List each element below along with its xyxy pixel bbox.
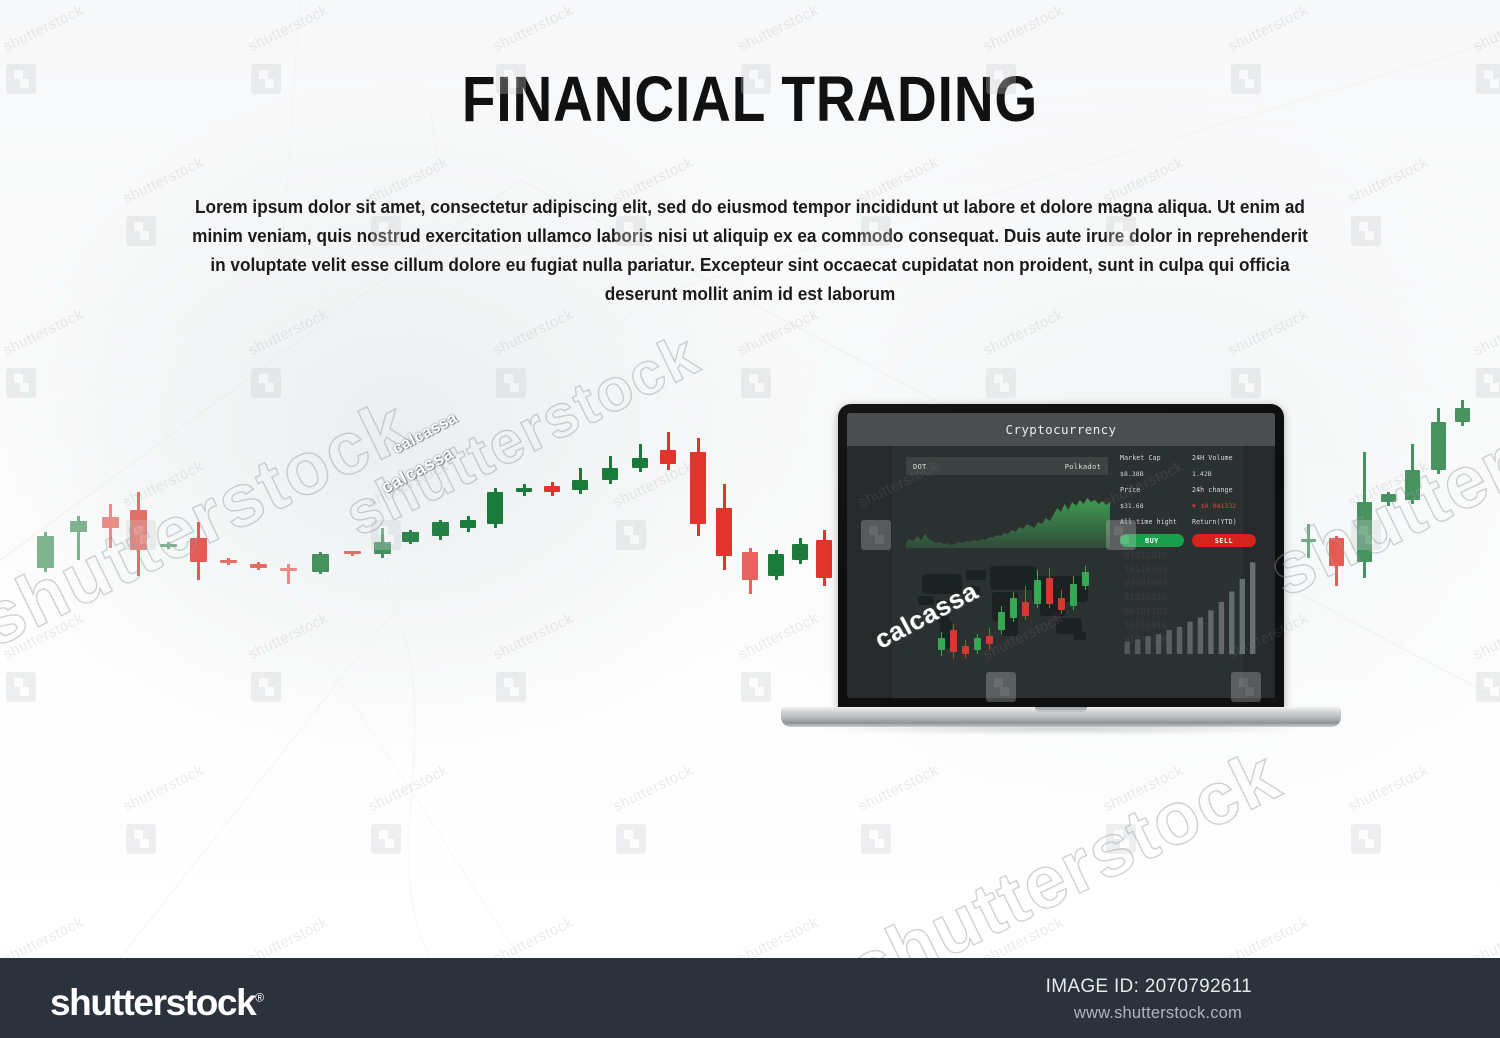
watermark-text: shutterstock: [1226, 2, 1312, 55]
watermark-text: shutterstock: [366, 154, 452, 207]
watermark-logo-icon: [251, 672, 281, 702]
watermark-logo-icon: [371, 824, 401, 854]
watermark-logo-icon: [986, 672, 1016, 702]
watermark-logo-icon: [126, 824, 156, 854]
watermark-text: shutterstock: [121, 762, 207, 815]
watermark-text: shutterstock: [1346, 154, 1432, 207]
watermark-text: shutterstock: [491, 610, 577, 663]
watermark-text: shutterstock: [736, 2, 822, 55]
watermark-logo-icon: [1231, 64, 1261, 94]
registered-mark: ®: [255, 991, 264, 1005]
watermark-logo-icon: [741, 672, 771, 702]
watermark-text: shutterstock: [1226, 306, 1312, 359]
watermark-logo-icon: [1106, 216, 1136, 246]
watermark-text: shutterstock: [1471, 610, 1500, 663]
watermark-text: shutterstock: [1101, 458, 1187, 511]
watermark-logo-icon: [1106, 520, 1136, 550]
watermark-logo-icon: [126, 216, 156, 246]
watermark-text: shutterstock: [246, 306, 332, 359]
watermark-logo-icon: [6, 672, 36, 702]
watermark-logo-icon: [1476, 368, 1500, 398]
watermark-text: shutterstock: [981, 2, 1067, 55]
watermark-logo-icon: [861, 520, 891, 550]
watermark-logo-icon: [496, 672, 526, 702]
watermark-text: shutterstock: [856, 154, 942, 207]
watermark-logo-icon: [1231, 368, 1261, 398]
watermark-logo-icon: [6, 64, 36, 94]
watermark-logo-icon: [986, 368, 1016, 398]
watermark-text: shutterstock: [491, 306, 577, 359]
watermark-text: shutterstock: [1226, 610, 1312, 663]
watermark-text: shutterstock: [736, 610, 822, 663]
watermark-text: shutterstock: [491, 2, 577, 55]
watermark-text: shutterstock: [981, 306, 1067, 359]
website-label: www.shutterstock.com: [1074, 1004, 1242, 1023]
watermark-logo-icon: [741, 368, 771, 398]
watermark-logo-icon: [1476, 672, 1500, 702]
watermark-text: shutterstock: [1, 306, 87, 359]
watermark-text: shutterstock: [1471, 2, 1500, 55]
watermark-text: shutterstock: [856, 762, 942, 815]
shutterstock-logo-text: shutterstock: [50, 982, 255, 1023]
watermark-text: shutterstock: [246, 610, 332, 663]
watermark-text: shutterstock: [736, 306, 822, 359]
watermark-text: shutterstock: [981, 610, 1067, 663]
watermark-logo-icon: [616, 824, 646, 854]
watermark-text: shutterstock: [611, 154, 697, 207]
watermark-logo-icon: [861, 824, 891, 854]
watermark-logo-icon: [496, 64, 526, 94]
watermark-text: shutterstock: [611, 458, 697, 511]
watermark-text: shutterstock: [1346, 762, 1432, 815]
watermark-text: shutterstock: [121, 154, 207, 207]
watermark-text: shutterstock: [1, 2, 87, 55]
poster-stage: FINANCIAL TRADING Lorem ipsum dolor sit …: [0, 0, 1500, 1038]
watermark-logo-icon: [1231, 672, 1261, 702]
watermark-text: shutterstock: [611, 762, 697, 815]
watermark-logo-icon: [1476, 64, 1500, 94]
watermark-logo-icon: [616, 520, 646, 550]
watermark-logo-icon: [496, 368, 526, 398]
watermark-logo-icon: [251, 64, 281, 94]
watermark-logo-icon: [371, 216, 401, 246]
watermark-text: shutterstock: [366, 762, 452, 815]
watermark-text: shutterstock: [246, 2, 332, 55]
watermark-logo-icon: [1351, 824, 1381, 854]
watermark-logo-icon: [1351, 216, 1381, 246]
watermark-text: shutterstock: [1101, 154, 1187, 207]
watermark-text: shutterstock: [1471, 306, 1500, 359]
image-id-label: IMAGE ID: 2070792611: [1046, 976, 1252, 998]
watermark-logo-icon: [986, 64, 1016, 94]
watermark-logo-icon: [251, 368, 281, 398]
footer-bar: shutterstock® IMAGE ID: 2070792611 www.s…: [0, 958, 1500, 1038]
watermark-text: shutterstock: [856, 458, 942, 511]
watermark-logo-icon: [741, 64, 771, 94]
watermark-logo-icon: [861, 216, 891, 246]
shutterstock-logo: shutterstock®: [50, 982, 264, 1024]
watermark-logo-icon: [6, 368, 36, 398]
watermark-logo-icon: [616, 216, 646, 246]
